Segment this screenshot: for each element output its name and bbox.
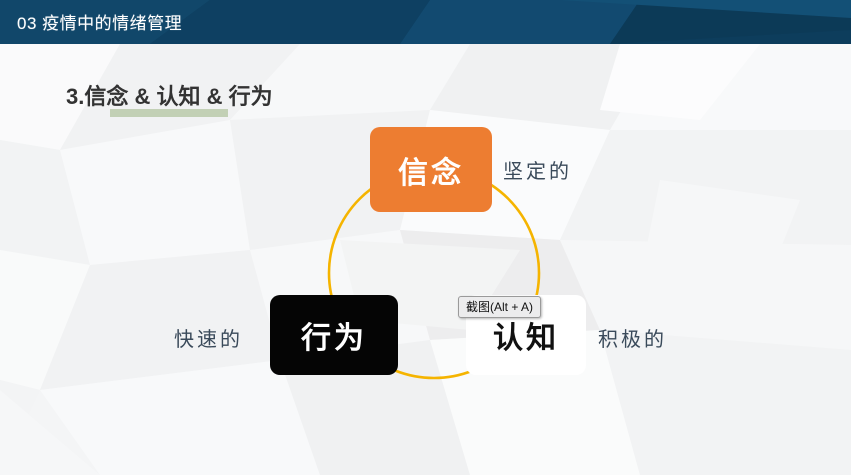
screenshot-tooltip-label: 截图(Alt + A) — [466, 297, 533, 317]
slide-canvas: 03 疫情中的情绪管理 3.信念 & 认知 & 行为 信念 行为 认知 坚定的 … — [0, 0, 851, 475]
node-cognition-label: 认知 — [493, 313, 559, 357]
node-belief-label: 信念 — [398, 148, 464, 192]
screenshot-tooltip[interactable]: 截图(Alt + A) — [458, 296, 541, 318]
side-label-fast: 快速的 — [174, 323, 243, 352]
side-label-firm: 坚定的 — [503, 155, 572, 184]
header-title: 03 疫情中的情绪管理 — [17, 9, 182, 34]
node-behavior-label: 行为 — [301, 313, 367, 357]
header-bar: 03 疫情中的情绪管理 — [0, 0, 851, 44]
subtitle-text: 3.信念 & 认知 & 行为 — [66, 82, 273, 112]
node-behavior[interactable]: 行为 — [270, 295, 398, 375]
side-label-active: 积极的 — [598, 323, 667, 352]
node-belief[interactable]: 信念 — [370, 127, 492, 212]
section-subtitle: 3.信念 & 认知 & 行为 — [66, 82, 273, 116]
